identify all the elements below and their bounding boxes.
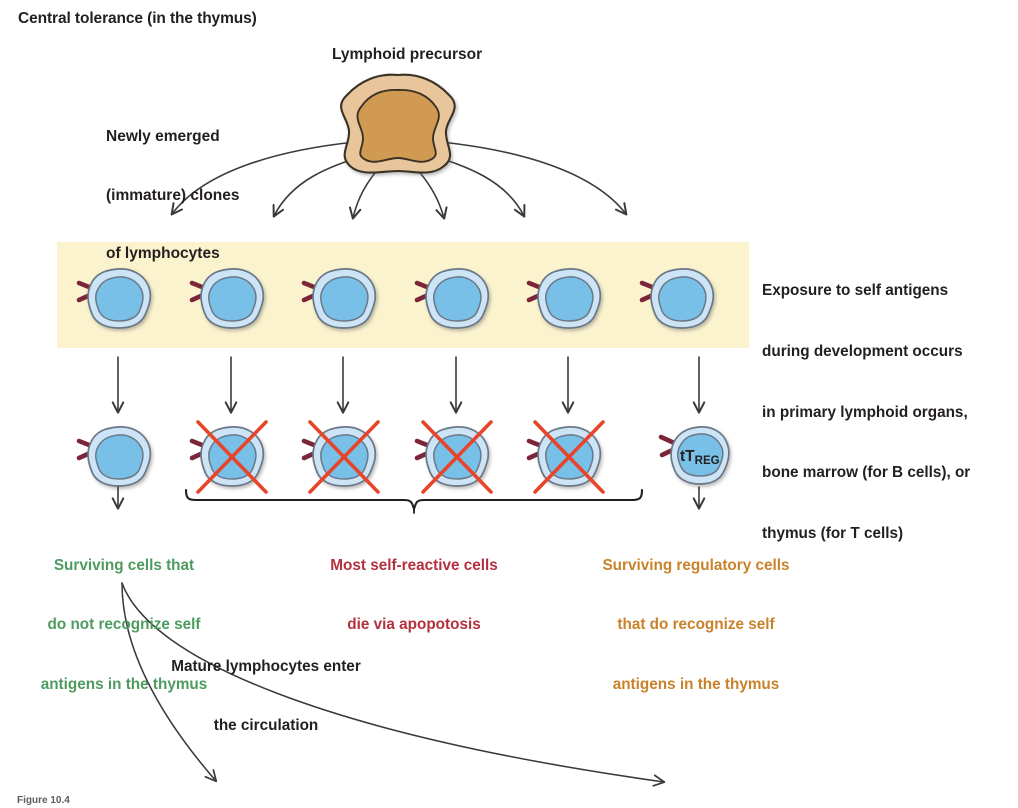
cell-nucleus [659, 277, 706, 321]
vertical-arrows-group [118, 357, 699, 412]
precursor-nucleus [357, 90, 438, 162]
apoptosis-brace [186, 490, 642, 513]
apoptotic-lymphocyte-cell [417, 422, 491, 492]
cell-nucleus [434, 277, 481, 321]
newly-emerged-line-1: Newly emerged [106, 127, 240, 147]
lymphoid-precursor-cell [341, 75, 455, 173]
cell-nucleus [321, 277, 368, 321]
caption-line: Surviving regulatory cells [565, 556, 827, 576]
exposure-line-4: bone marrow (for B cells), or [762, 463, 970, 483]
caption-line: the circulation [146, 716, 386, 736]
central-tolerance-diagram: tTREG Central tolerance (in the thymus) … [0, 0, 1018, 808]
caption-line: Surviving cells that [8, 556, 240, 576]
fan-arrow-6 [441, 142, 626, 214]
apoptotic-lymphocyte-cell [304, 422, 378, 492]
surviving-lymphocyte-cell [79, 427, 150, 486]
caption-line: Most self-reactive cells [294, 556, 534, 576]
lymphoid-precursor-label: Lymphoid precursor [332, 45, 482, 65]
fate-lymphocyte-row: tTREG [79, 422, 729, 492]
apoptotic-lymphocyte-cell [529, 422, 603, 492]
cell-nucleus [546, 277, 593, 321]
newly-emerged-line-2: (immature) clones [106, 186, 240, 206]
caption-line: that do recognize self [565, 615, 827, 635]
exposure-line-2: during development occurs [762, 342, 970, 362]
exposure-line-1: Exposure to self antigens [762, 281, 970, 301]
page-title: Central tolerance (in the thymus) [18, 9, 257, 29]
figure-caption: Figure 10.4 [17, 795, 70, 808]
treg-label-sub: REG [695, 455, 720, 467]
caption-line: antigens in the thymus [565, 675, 827, 695]
caption-line: Mature lymphocytes enter [146, 657, 386, 677]
exposure-line-3: in primary lymphoid organs, [762, 403, 970, 423]
newly-emerged-line-3: of lymphocytes [106, 244, 240, 264]
regulatory-t-cell: tTREG [661, 427, 729, 484]
newly-emerged-clones-label: Newly emerged (immature) clones of lymph… [106, 88, 240, 303]
cell-nucleus [96, 435, 143, 479]
mature-lymphocytes-caption: Mature lymphocytes enter the circulation [146, 617, 386, 776]
apoptotic-lymphocyte-cell [192, 422, 266, 492]
fan-arrow-4 [414, 166, 444, 218]
fan-arrow-3 [353, 166, 381, 218]
surviving-regulatory-caption: Surviving regulatory cells that do recog… [565, 516, 827, 735]
